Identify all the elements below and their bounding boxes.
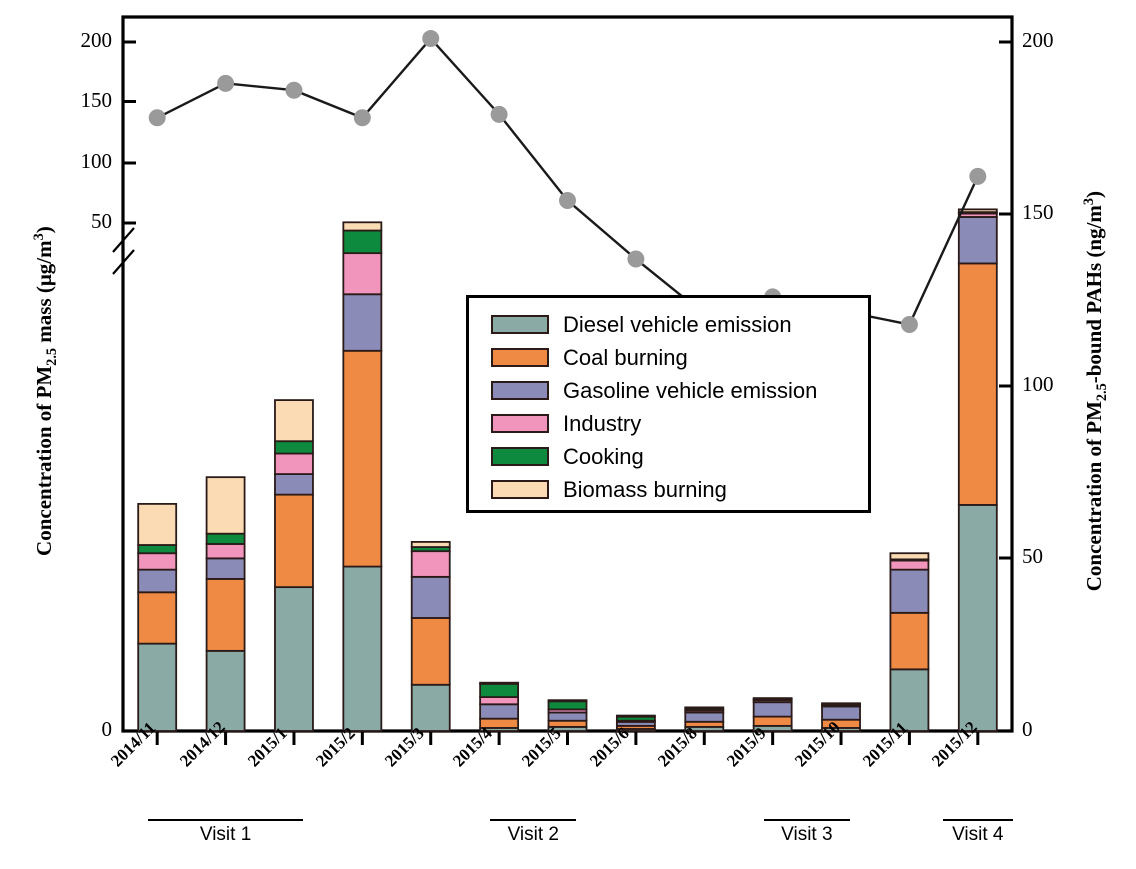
bar-segment bbox=[549, 701, 587, 709]
bar-segment bbox=[207, 477, 245, 534]
chart-figure: Concentration of PM2.5 mass (μg/m3) Conc… bbox=[0, 0, 1136, 869]
left-axis-tick-label: 150 bbox=[20, 88, 112, 113]
bar-segment bbox=[138, 570, 176, 593]
line-marker bbox=[354, 109, 371, 126]
legend-swatch-icon bbox=[491, 414, 549, 433]
bar-segment bbox=[138, 504, 176, 545]
left-axis-title-superscript: 3 bbox=[31, 233, 47, 240]
bar-segment bbox=[549, 713, 587, 721]
right-axis-title-tail: -bound PAHs (ng/m bbox=[1082, 205, 1106, 383]
bar-segment bbox=[754, 702, 792, 716]
line-marker bbox=[969, 168, 986, 185]
bar-segment bbox=[890, 553, 928, 559]
bar-segment bbox=[275, 454, 313, 475]
bar-segment bbox=[412, 685, 450, 731]
visit-group-label: Visit 3 bbox=[737, 824, 877, 846]
bar-segment bbox=[890, 613, 928, 670]
right-axis-tick-label: 0 bbox=[1022, 717, 1082, 742]
bar-segment bbox=[549, 700, 587, 701]
bar-segment bbox=[822, 706, 860, 719]
left-axis-tick-label: 200 bbox=[20, 28, 112, 53]
line-marker bbox=[901, 316, 918, 333]
visit-group-rule bbox=[764, 819, 850, 821]
right-axis-title-subscript: 2.5 bbox=[1094, 383, 1110, 401]
bar-segment bbox=[480, 683, 518, 684]
right-axis-title-superscript: 3 bbox=[1081, 198, 1097, 205]
line-marker bbox=[627, 251, 644, 268]
bar-segment bbox=[412, 551, 450, 577]
bar-segment bbox=[685, 713, 723, 722]
bar-segment bbox=[822, 703, 860, 704]
bar-segment bbox=[890, 570, 928, 613]
left-axis-title-subscript: 2.5 bbox=[44, 348, 60, 366]
right-axis-title-end: ) bbox=[1082, 191, 1106, 198]
bar-segment bbox=[412, 618, 450, 685]
bar-segment bbox=[207, 558, 245, 579]
legend-item[interactable]: Diesel vehicle emission bbox=[491, 308, 868, 341]
right-axis-title: Concentration of PM2.5-bound PAHs (ng/m3… bbox=[1081, 161, 1111, 621]
left-axis-tick-label: 0 bbox=[20, 717, 112, 742]
bar-segment bbox=[343, 351, 381, 567]
line-marker bbox=[217, 75, 234, 92]
bar-segment bbox=[959, 505, 997, 731]
legend-label: Industry bbox=[563, 413, 641, 435]
bar-segment bbox=[890, 560, 928, 569]
visit-group-rule bbox=[148, 819, 303, 821]
bar-segment bbox=[138, 592, 176, 643]
line-marker bbox=[285, 82, 302, 99]
bar-segment bbox=[480, 697, 518, 704]
legend-swatch-icon bbox=[491, 315, 549, 334]
visit-group-rule bbox=[490, 819, 576, 821]
right-axis-tick-label: 50 bbox=[1022, 544, 1082, 569]
line-marker bbox=[559, 192, 576, 209]
line-marker bbox=[149, 109, 166, 126]
legend-label: Coal burning bbox=[563, 347, 688, 369]
left-axis-title-tail: mass (μg/m bbox=[32, 240, 56, 348]
right-axis-tick-label: 100 bbox=[1022, 372, 1082, 397]
line-marker bbox=[491, 106, 508, 123]
right-axis-tick-label: 150 bbox=[1022, 200, 1082, 225]
legend-item[interactable]: Industry bbox=[491, 407, 868, 440]
visit-group-label: Visit 1 bbox=[156, 824, 296, 846]
legend-label: Cooking bbox=[563, 446, 644, 468]
bar-segment bbox=[343, 567, 381, 731]
bar-segment bbox=[754, 717, 792, 726]
bar-segment bbox=[480, 684, 518, 697]
legend-label: Diesel vehicle emission bbox=[563, 314, 792, 336]
bar-segment bbox=[412, 577, 450, 618]
bar-segment bbox=[207, 534, 245, 544]
legend-swatch-icon bbox=[491, 480, 549, 499]
left-axis-tick-label: 50 bbox=[20, 209, 112, 234]
legend-label: Biomass burning bbox=[563, 479, 727, 501]
bar-segment bbox=[343, 253, 381, 294]
legend: Diesel vehicle emissionCoal burningGasol… bbox=[466, 295, 871, 513]
bar-segment bbox=[412, 542, 450, 547]
bar-segment bbox=[480, 704, 518, 718]
legend-item[interactable]: Biomass burning bbox=[491, 473, 868, 506]
legend-swatch-icon bbox=[491, 381, 549, 400]
bar-segment bbox=[275, 587, 313, 731]
line-markers-group bbox=[149, 30, 987, 333]
bar-segment bbox=[343, 222, 381, 230]
left-axis-title-text: Concentration of PM bbox=[32, 366, 56, 556]
bar-segment bbox=[685, 707, 723, 708]
bar-segment bbox=[138, 545, 176, 553]
legend-item[interactable]: Cooking bbox=[491, 440, 868, 473]
line-marker bbox=[422, 30, 439, 47]
legend-item[interactable]: Coal burning bbox=[491, 341, 868, 374]
visit-group-label: Visit 4 bbox=[908, 824, 1048, 846]
bar-segment bbox=[138, 644, 176, 731]
bar-segment bbox=[275, 495, 313, 587]
bar-segment bbox=[207, 544, 245, 558]
bar-segment bbox=[754, 698, 792, 699]
bar-segment bbox=[617, 716, 655, 717]
bar-segment bbox=[343, 294, 381, 351]
bar-segment bbox=[138, 553, 176, 569]
legend-swatch-icon bbox=[491, 447, 549, 466]
legend-label: Gasoline vehicle emission bbox=[563, 380, 817, 402]
bar-segment bbox=[959, 209, 997, 212]
legend-swatch-icon bbox=[491, 348, 549, 367]
right-axis-title-text: Concentration of PM bbox=[1082, 401, 1106, 591]
visit-group-label: Visit 2 bbox=[463, 824, 603, 846]
bar-segment bbox=[959, 217, 997, 263]
bar-segment bbox=[275, 474, 313, 495]
bar-segment bbox=[275, 441, 313, 453]
visit-group-rule bbox=[943, 819, 1013, 821]
bar-segment bbox=[343, 231, 381, 254]
legend-item[interactable]: Gasoline vehicle emission bbox=[491, 374, 868, 407]
left-axis-tick-label: 100 bbox=[20, 149, 112, 174]
right-axis-tick-label: 200 bbox=[1022, 28, 1082, 53]
line-series-group bbox=[157, 39, 978, 325]
bar-segment bbox=[207, 579, 245, 651]
bar-segment bbox=[275, 400, 313, 441]
bar-segment bbox=[959, 263, 997, 505]
